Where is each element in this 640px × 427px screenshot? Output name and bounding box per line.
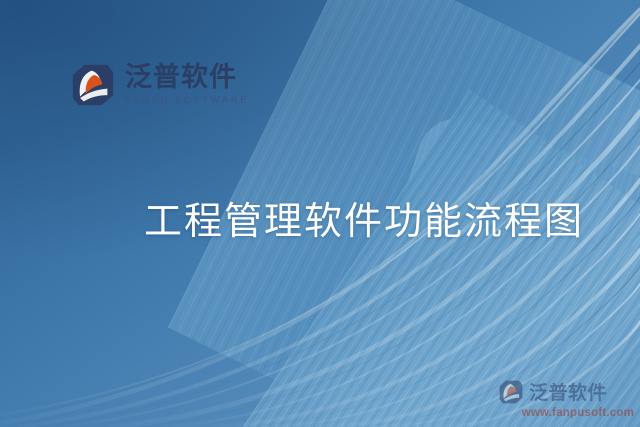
fanpu-hexagon-leaf-logo-icon — [498, 379, 524, 405]
watermark: 泛普软件 www.fanpusoft.com — [498, 378, 634, 419]
watermark-logo-row: 泛普软件 — [498, 378, 634, 405]
brand-logo-text: 泛普软件 FANPU SOFTWARE — [125, 64, 249, 106]
watermark-url: www.fanpusoft.com — [498, 407, 634, 419]
brand-logo-en: FANPU SOFTWARE — [125, 96, 249, 106]
brand-logo: 泛普软件 FANPU SOFTWARE — [70, 62, 249, 108]
fanpu-hexagon-leaf-logo-icon — [70, 62, 116, 108]
brand-logo-cn: 泛普软件 — [125, 64, 249, 91]
slide-canvas: 泛普软件 FANPU SOFTWARE 工程管理软件功能流程图 泛普软件 www… — [0, 0, 640, 427]
page-title: 工程管理软件功能流程图 — [144, 190, 584, 245]
watermark-brand-cn: 泛普软件 — [529, 378, 607, 405]
